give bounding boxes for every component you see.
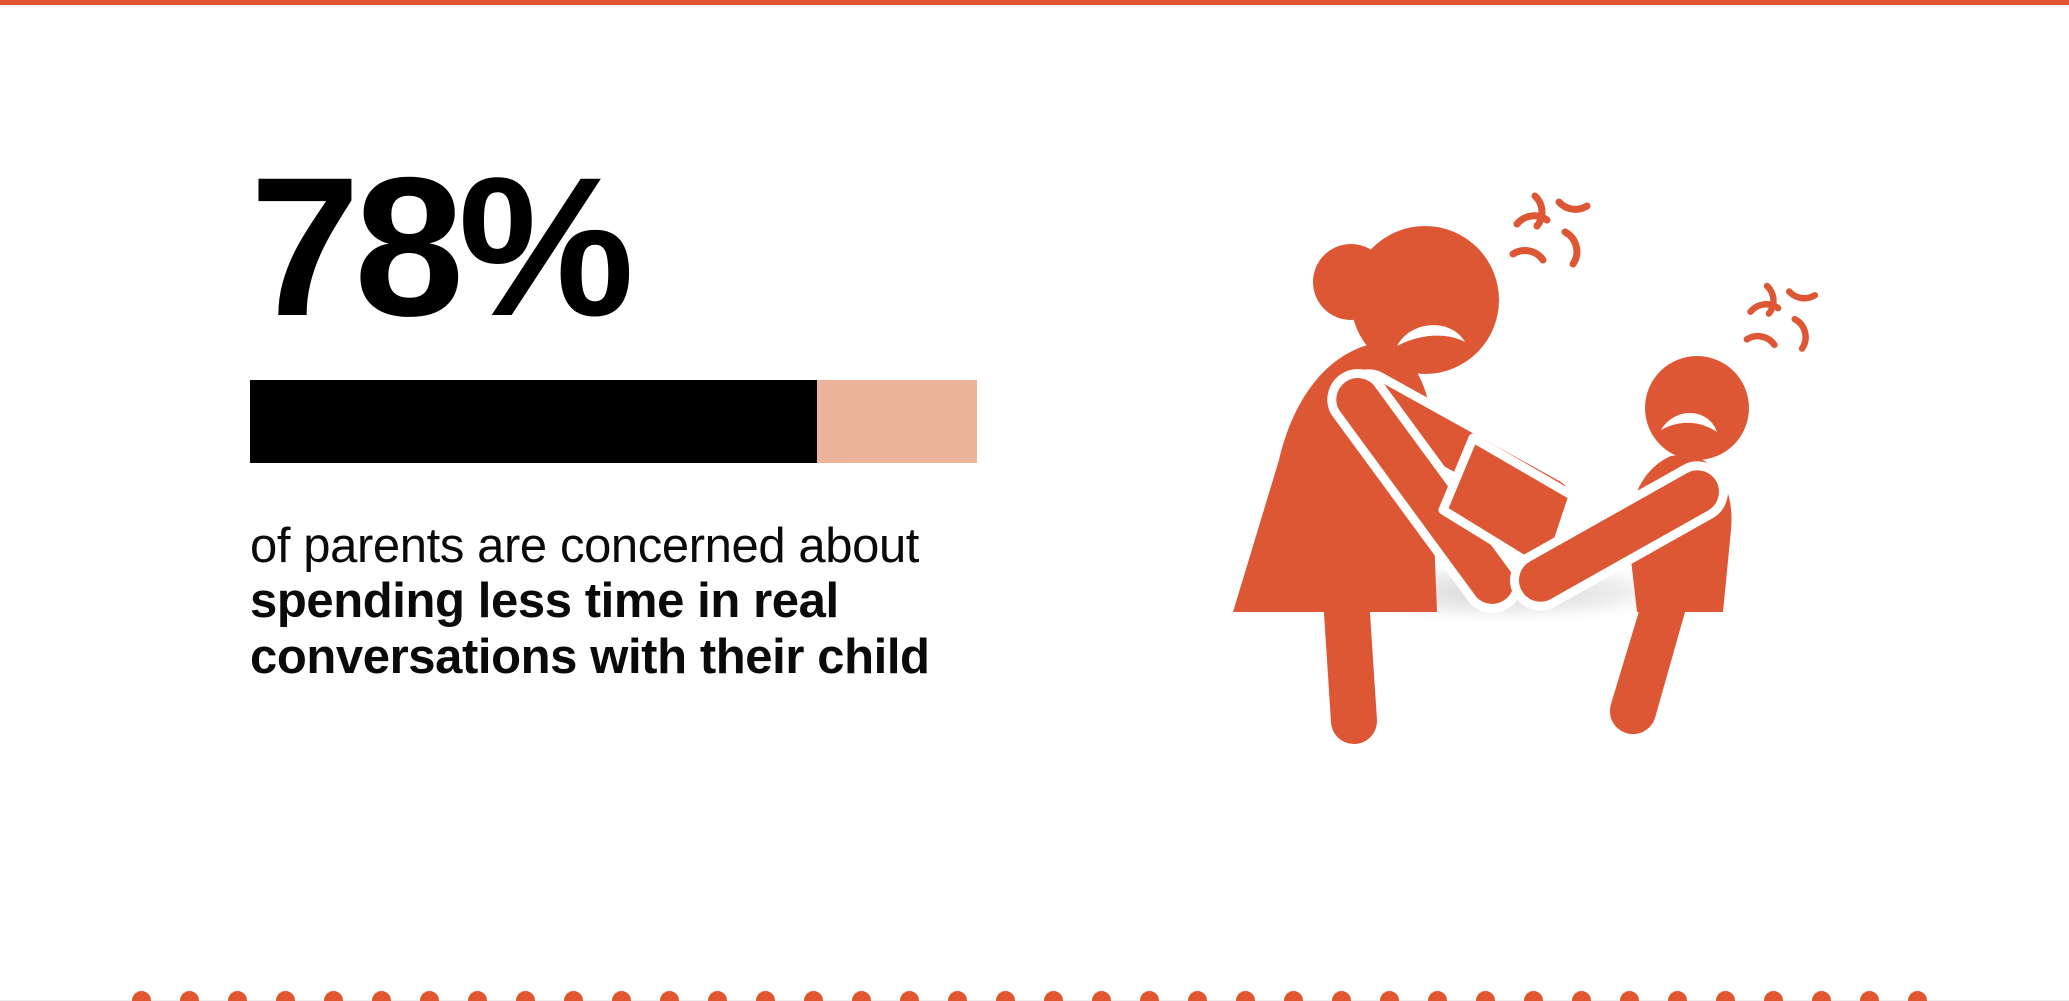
- caption-emphasis: spending less time in real conversations…: [250, 574, 930, 683]
- infographic-page: 78% of parents are concerned about spend…: [0, 0, 2069, 1001]
- top-accent-rule: [0, 0, 2069, 5]
- anger-mark-parent: [1513, 196, 1587, 264]
- bottom-dotted-border: [0, 979, 2069, 1001]
- progress-bar-fill: [250, 380, 817, 463]
- stat-block: 78% of parents are concerned about spend…: [250, 150, 1070, 685]
- parent-head: [1351, 226, 1499, 374]
- caption-lead: of parents are concerned about: [250, 519, 919, 573]
- child-figure: [1515, 356, 1749, 734]
- child-head: [1645, 356, 1749, 460]
- caption-text: of parents are concerned about spending …: [250, 519, 990, 685]
- progress-bar-track: [250, 380, 977, 463]
- illustration-parent-child-device: [1175, 160, 1835, 810]
- stat-percentage: 78%: [250, 150, 1070, 344]
- anger-mark-child: [1747, 286, 1815, 349]
- parent-leg-left: [1323, 598, 1377, 744]
